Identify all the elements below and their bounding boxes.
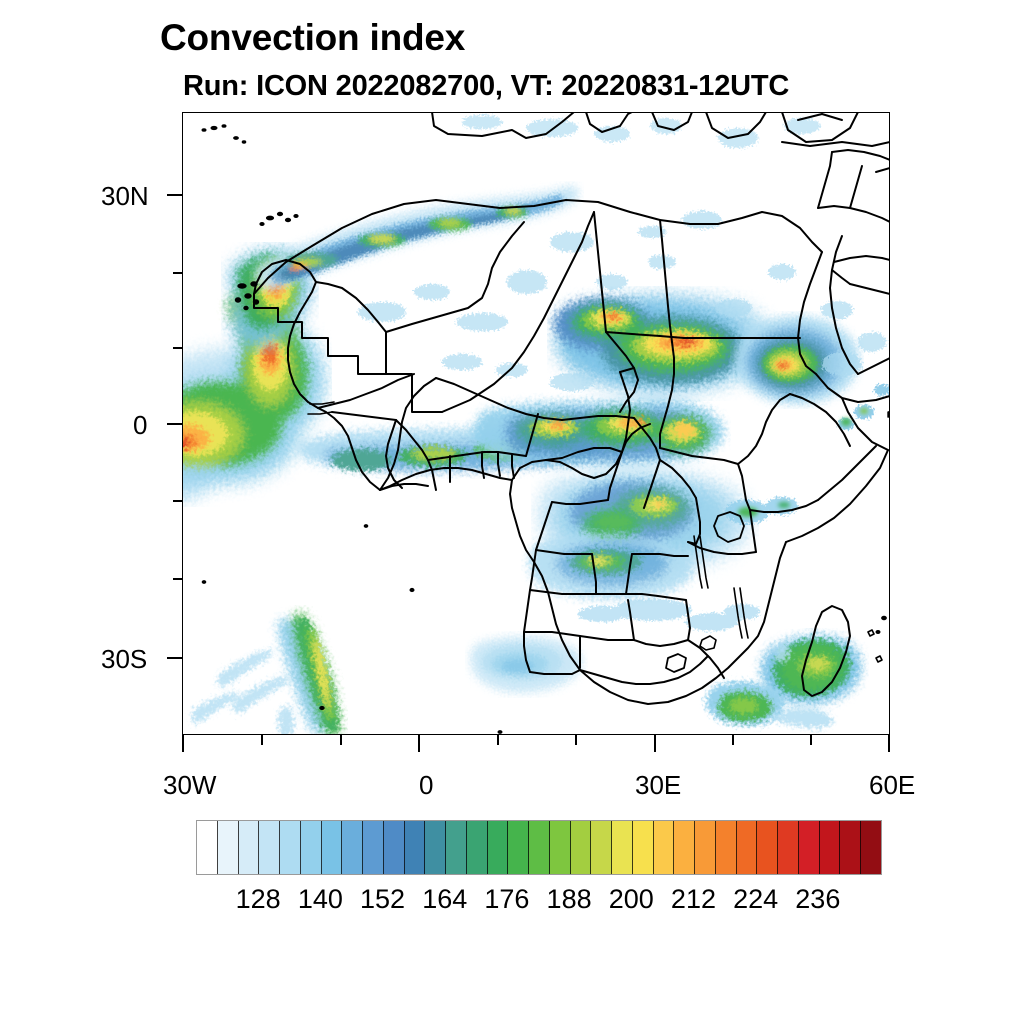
colorbar-cell [446, 821, 467, 874]
y-minor-tick-20s [173, 578, 182, 580]
colorbar-cell [799, 821, 820, 874]
colorbar-cell [861, 821, 881, 874]
colorbar-tick-label: 140 [298, 884, 343, 915]
colorbar-cell [280, 821, 301, 874]
colorbar-cell [363, 821, 384, 874]
colorbar-tick-label: 212 [671, 884, 716, 915]
x-minor-tick-20e [575, 735, 577, 745]
y-tick-label-0: 0 [133, 410, 147, 441]
x-minor-tick-20w [261, 735, 263, 745]
colorbar-tick-label: 224 [733, 884, 778, 915]
map-plot-area[interactable] [182, 112, 890, 735]
y-major-tick-30n [167, 194, 182, 196]
colorbar-cell [467, 821, 488, 874]
colorbar[interactable] [196, 820, 882, 875]
colorbar-cell [488, 821, 509, 874]
colorbar-cell [342, 821, 363, 874]
colorbar-cell [840, 821, 861, 874]
colorbar-cell [591, 821, 612, 874]
colorbar-cell [633, 821, 654, 874]
colorbar-cell [737, 821, 758, 874]
x-tick-label-30w: 30W [163, 770, 216, 801]
colorbar-cell [301, 821, 322, 874]
colorbar-tick-label: 188 [547, 884, 592, 915]
colorbar-cell [197, 821, 218, 874]
colorbar-cell [239, 821, 260, 874]
x-minor-tick-10w [340, 735, 342, 745]
x-major-tick-0 [418, 735, 420, 752]
y-minor-tick-10s [173, 500, 182, 502]
colorbar-cell [757, 821, 778, 874]
colorbar-cell [218, 821, 239, 874]
x-major-tick-60e [888, 735, 890, 752]
convection-map [182, 112, 890, 735]
chart-subtitle: Run: ICON 2022082700, VT: 20220831-12UTC [183, 70, 789, 103]
x-minor-tick-10e [497, 735, 499, 745]
colorbar-cell [508, 821, 529, 874]
colorbar-cell [322, 821, 343, 874]
y-minor-tick-20n [173, 272, 182, 274]
colorbar-cell [405, 821, 426, 874]
x-tick-label-30e: 30E [635, 770, 681, 801]
x-major-tick-30e [654, 735, 656, 752]
colorbar-cell [716, 821, 737, 874]
page-title: Convection index [160, 17, 465, 59]
colorbar-cell [674, 821, 695, 874]
colorbar-tick-label: 152 [360, 884, 405, 915]
colorbar-tick-label: 164 [422, 884, 467, 915]
x-minor-tick-40e [732, 735, 734, 745]
colorbar-tick-label: 128 [236, 884, 281, 915]
x-tick-label-60e: 60E [869, 770, 915, 801]
colorbar-tick-label: 236 [795, 884, 840, 915]
colorbar-tick-label: 200 [609, 884, 654, 915]
y-minor-tick-10n [173, 347, 182, 349]
x-tick-label-0: 0 [419, 770, 433, 801]
y-tick-label-30s: 30S [101, 644, 147, 675]
x-minor-tick-50e [810, 735, 812, 745]
colorbar-cell [529, 821, 550, 874]
colorbar-cell [778, 821, 799, 874]
y-major-tick-30s [167, 657, 182, 659]
colorbar-cell [259, 821, 280, 874]
colorbar-cell [612, 821, 633, 874]
colorbar-cell [820, 821, 841, 874]
colorbar-cell [695, 821, 716, 874]
colorbar-cell [425, 821, 446, 874]
y-major-tick-0 [167, 423, 182, 425]
colorbar-cell [571, 821, 592, 874]
y-tick-label-30n: 30N [101, 181, 149, 212]
colorbar-cell [384, 821, 405, 874]
colorbar-tick-label: 176 [484, 884, 529, 915]
x-major-tick-30w [182, 735, 184, 752]
colorbar-cell [654, 821, 675, 874]
colorbar-cell [550, 821, 571, 874]
